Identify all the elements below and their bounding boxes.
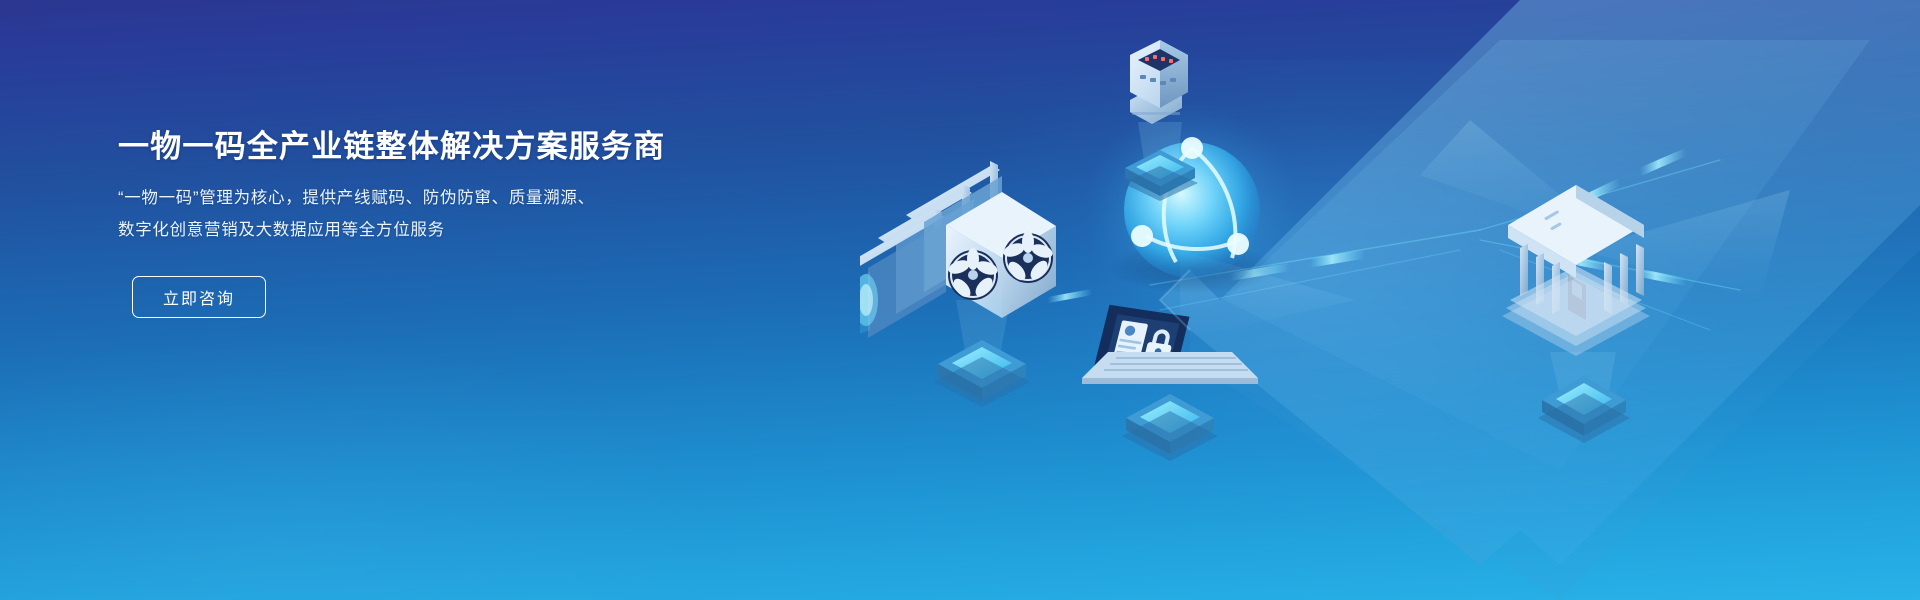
server-rack-fans-icon	[860, 161, 1056, 352]
pedestal-laptop	[1122, 394, 1218, 461]
isometric-network-illustration	[860, 0, 1920, 600]
hero-subtitle-line-1: “一物一码”管理为核心，提供产线赋码、防伪防窜、质量溯源、	[118, 182, 758, 214]
airflow-glow	[860, 272, 878, 352]
network-sphere-icon	[1084, 102, 1300, 318]
page-title: 一物一码全产业链整体解决方案服务商	[118, 126, 758, 168]
consult-now-button[interactable]: 立即咨询	[132, 276, 266, 318]
pedestal-rack	[934, 340, 1030, 407]
hero-subtitle-line-2: 数字化创意营销及大数据应用等全方位服务	[118, 214, 758, 246]
hero-copy-block: 一物一码全产业链整体解决方案服务商 “一物一码”管理为核心，提供产线赋码、防伪防…	[118, 126, 758, 318]
background-glow-left	[0, 330, 720, 600]
hero-banner: 一物一码全产业链整体解决方案服务商 “一物一码”管理为核心，提供产线赋码、防伪防…	[0, 0, 1920, 600]
